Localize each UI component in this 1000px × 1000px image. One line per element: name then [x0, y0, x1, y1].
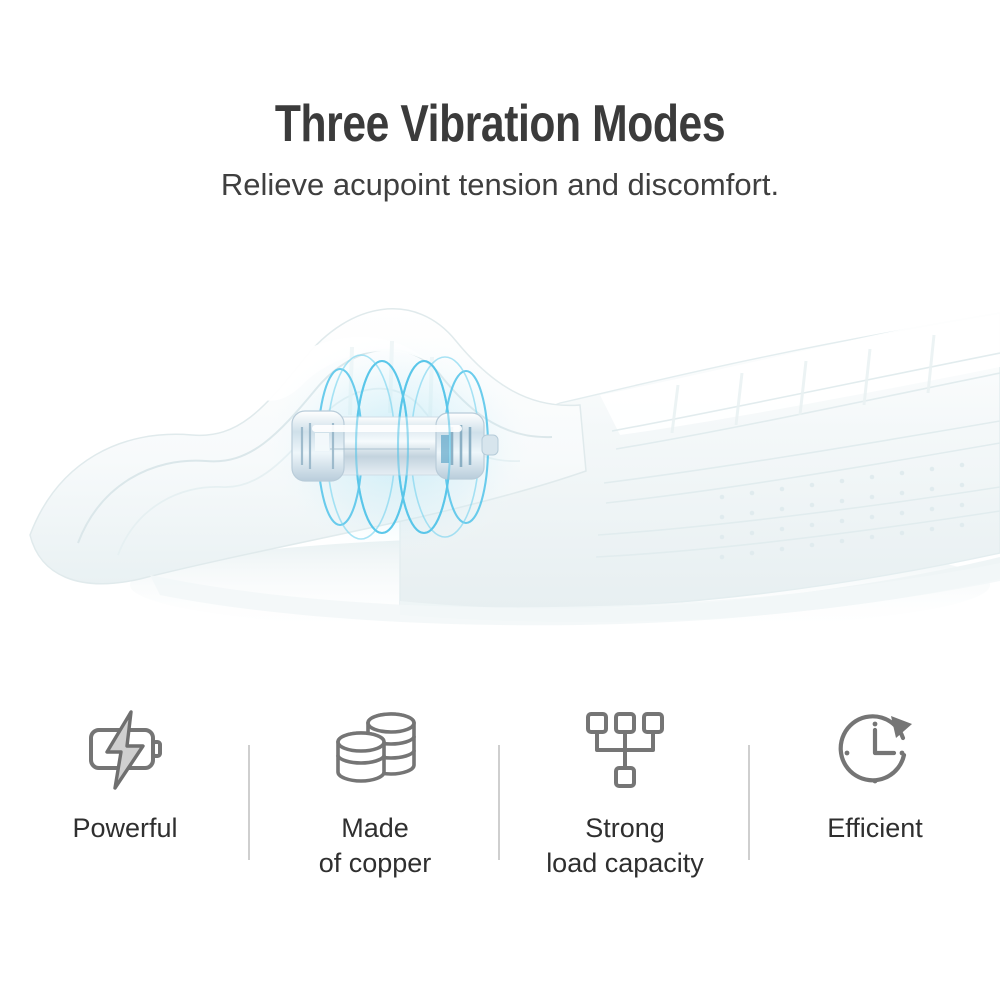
product-feature-page: Three Vibration Modes Relieve acupoint t… [0, 0, 1000, 1000]
page-subtitle: Relieve acupoint tension and discomfort. [0, 152, 1000, 204]
page-title: Three Vibration Modes [90, 96, 910, 152]
header: Three Vibration Modes Relieve acupoint t… [0, 0, 1000, 204]
feature-strip: Powerful [0, 705, 1000, 905]
product-hero-image [0, 235, 1000, 665]
feature-item-powerful: Powerful [0, 705, 250, 846]
feature-label-copper: Made of copper [319, 811, 432, 881]
feature-icon-wrap [82, 705, 168, 797]
feature-icon-wrap [332, 705, 418, 797]
feature-item-copper: Made of copper [250, 705, 500, 881]
vibration-motor [292, 411, 498, 481]
feature-item-efficient: Efficient [750, 705, 1000, 846]
clock-arrow-icon [832, 708, 918, 794]
battery-bolt-icon [82, 708, 168, 794]
product-illustration [0, 235, 1000, 665]
coins-stack-icon [332, 708, 418, 794]
feature-label-load-capacity: Strong load capacity [546, 811, 704, 881]
hierarchy-icon [582, 708, 668, 794]
feature-label-efficient: Efficient [827, 811, 923, 846]
feature-icon-wrap [582, 705, 668, 797]
feature-icon-wrap [832, 705, 918, 797]
feature-item-load-capacity: Strong load capacity [500, 705, 750, 881]
feature-label-powerful: Powerful [72, 811, 177, 846]
